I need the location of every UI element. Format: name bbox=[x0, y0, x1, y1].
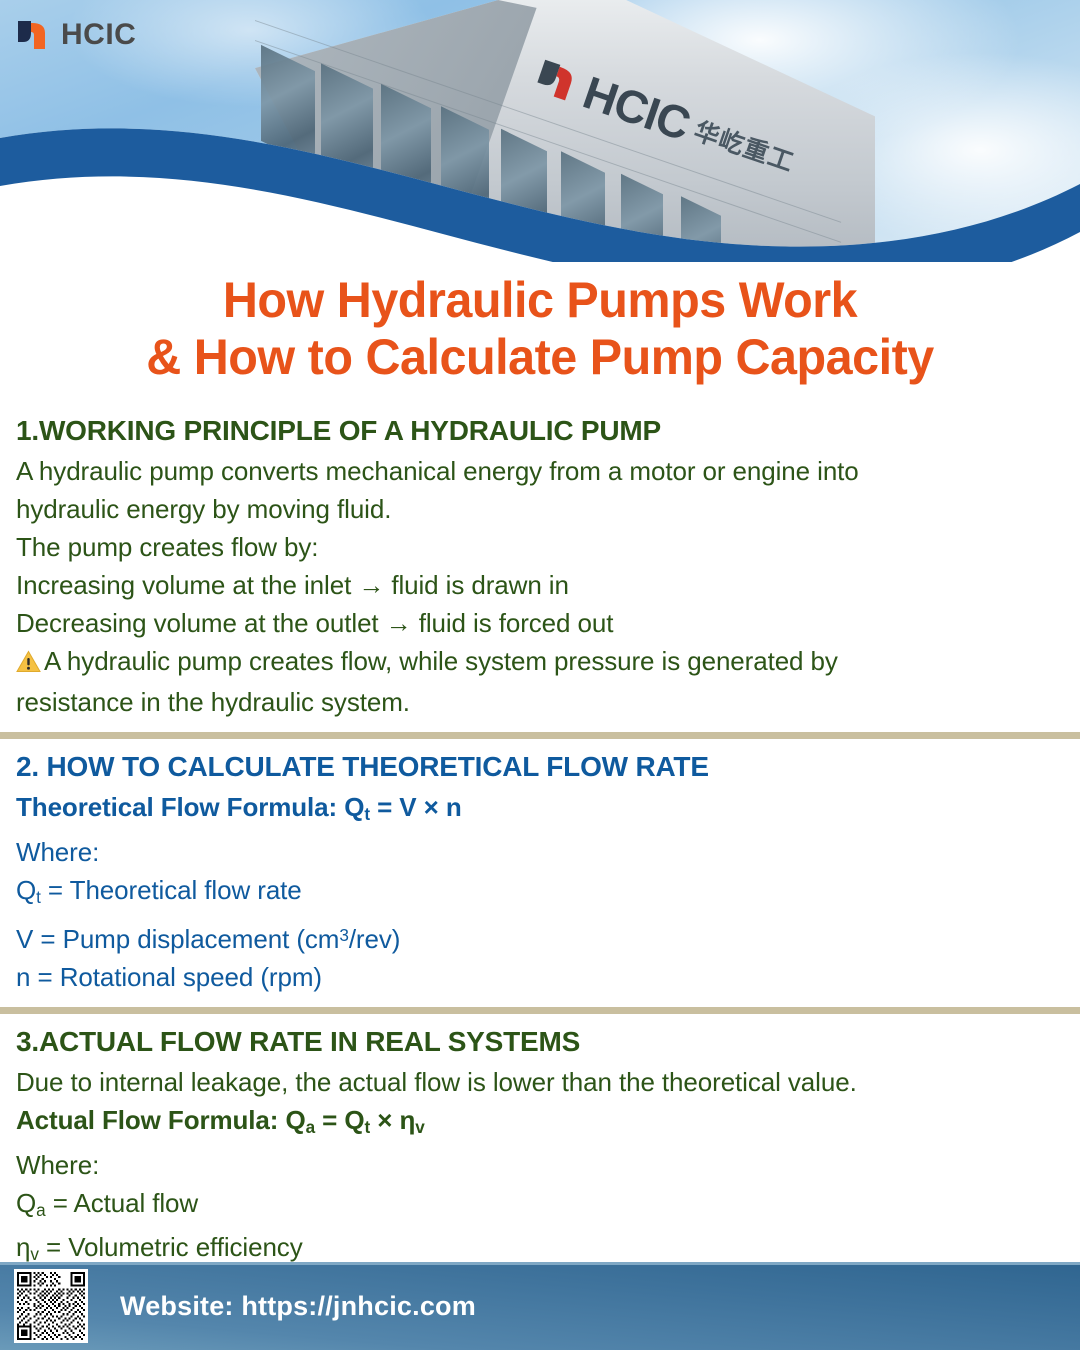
section-working-principle: 1.WORKING PRINCIPLE OF A HYDRAULIC PUMP … bbox=[0, 412, 1080, 721]
section-1-heading: 1.WORKING PRINCIPLE OF A HYDRAULIC PUMP bbox=[16, 412, 1064, 450]
section-3-line: Qa = Actual flow bbox=[16, 1184, 1064, 1229]
footer-bar: Website: https://jnhcic.com bbox=[0, 1262, 1080, 1350]
blue-wave-divider bbox=[0, 110, 1080, 262]
section-1-warning-text: A hydraulic pump creates flow, while sys… bbox=[44, 646, 838, 676]
section-2-formula: Theoretical Flow Formula: Qt = V × n bbox=[16, 788, 1064, 833]
title-line-1: How Hydraulic Pumps Work bbox=[16, 272, 1064, 329]
hcic-logo-mark-icon bbox=[16, 18, 52, 52]
qr-code[interactable] bbox=[14, 1269, 88, 1343]
section-3-line: Due to internal leakage, the actual flow… bbox=[16, 1063, 1064, 1101]
section-divider bbox=[0, 1007, 1080, 1014]
section-3-heading: 3.ACTUAL FLOW RATE IN REAL SYSTEMS bbox=[16, 1023, 1064, 1061]
footer-top-edge bbox=[0, 1262, 1080, 1265]
section-divider bbox=[0, 732, 1080, 739]
section-1-line: The pump creates flow by: bbox=[16, 528, 1064, 566]
page-title: How Hydraulic Pumps Work & How to Calcul… bbox=[0, 272, 1080, 386]
article-body: 1.WORKING PRINCIPLE OF A HYDRAULIC PUMP … bbox=[0, 412, 1080, 1273]
hcic-logo-text: HCIC bbox=[61, 18, 136, 52]
section-2-line: n = Rotational speed (rpm) bbox=[16, 958, 1064, 996]
section-theoretical-flow: 2. HOW TO CALCULATE THEORETICAL FLOW RAT… bbox=[0, 748, 1080, 996]
section-actual-flow: 3.ACTUAL FLOW RATE IN REAL SYSTEMS Due t… bbox=[0, 1023, 1080, 1273]
section-2-line: Where: bbox=[16, 833, 1064, 871]
section-1-line-warning: A hydraulic pump creates flow, while sys… bbox=[16, 642, 1064, 683]
section-3-line: Where: bbox=[16, 1146, 1064, 1184]
section-1-line: resistance in the hydraulic system. bbox=[16, 683, 1064, 721]
title-line-2: & How to Calculate Pump Capacity bbox=[16, 329, 1064, 386]
section-3-formula: Actual Flow Formula: Qa = Qt × ηv bbox=[16, 1101, 1064, 1146]
website-label[interactable]: Website: https://jnhcic.com bbox=[120, 1291, 476, 1322]
section-2-line: V = Pump displacement (cm3/rev) bbox=[16, 916, 1064, 958]
section-2-line: Qt = Theoretical flow rate bbox=[16, 871, 1064, 916]
section-1-line: hydraulic energy by moving fluid. bbox=[16, 490, 1064, 528]
hero-banner: HCIC 华屹重工 HCIC bbox=[0, 0, 1080, 262]
section-1-line: Increasing volume at the inlet → fluid i… bbox=[16, 566, 1064, 604]
section-2-heading: 2. HOW TO CALCULATE THEORETICAL FLOW RAT… bbox=[16, 748, 1064, 786]
section-1-line: Decreasing volume at the outlet → fluid … bbox=[16, 604, 1064, 642]
section-1-line: A hydraulic pump converts mechanical ene… bbox=[16, 452, 1064, 490]
hcic-logo: HCIC bbox=[16, 18, 136, 52]
warning-icon bbox=[16, 645, 41, 683]
